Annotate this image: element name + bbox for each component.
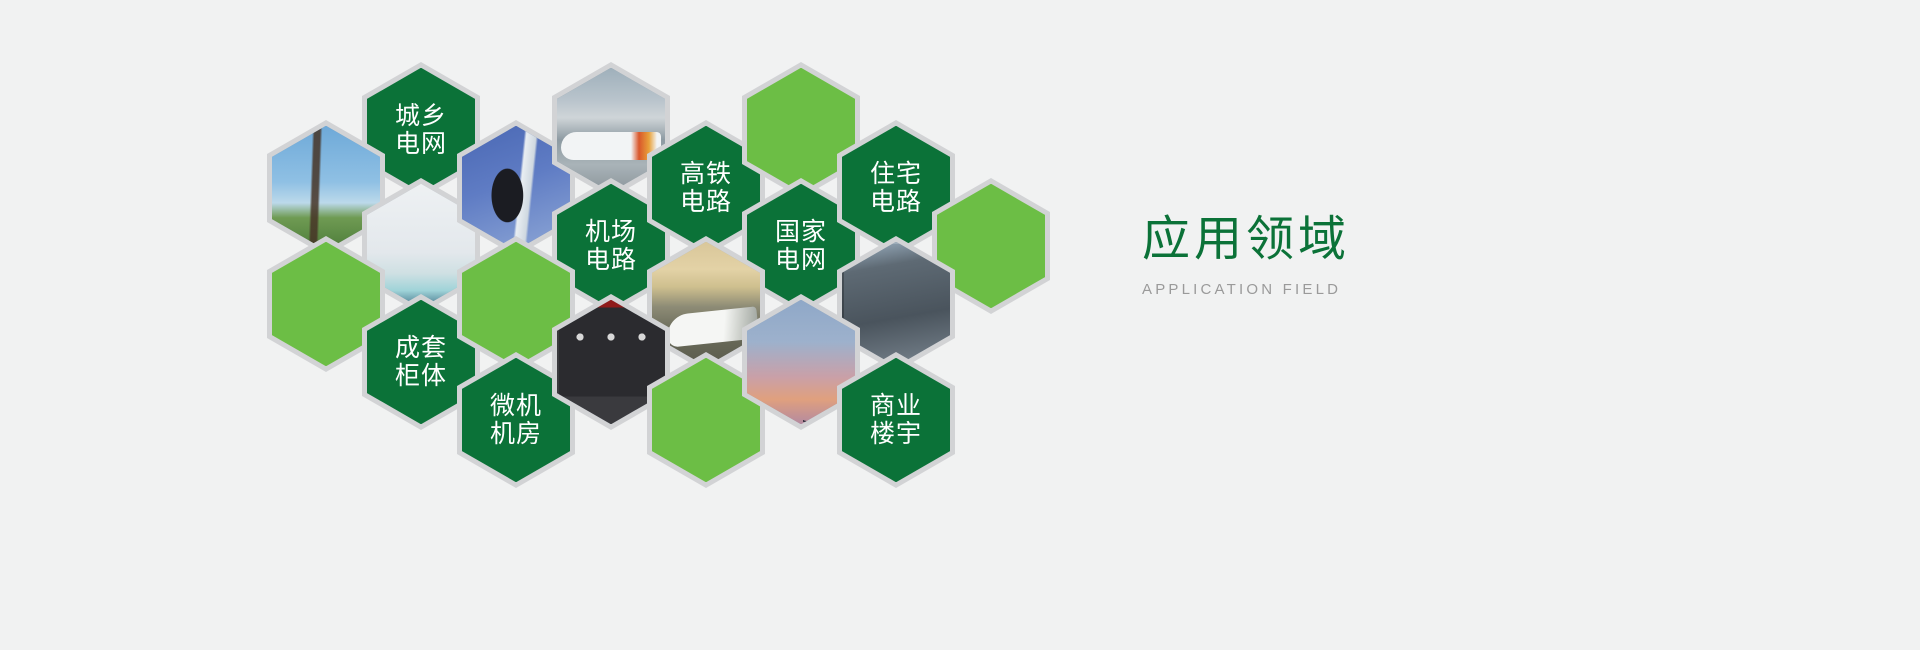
hex-label: 机场 电路 bbox=[585, 218, 637, 274]
page-title: 应用领域 bbox=[1142, 215, 1562, 263]
page-subtitle: APPLICATION FIELD bbox=[1142, 281, 1562, 298]
hex-label: 国家 电网 bbox=[775, 218, 827, 274]
hex-label: 城乡 电网 bbox=[395, 102, 447, 158]
hex-label: 商业 楼宇 bbox=[870, 392, 922, 448]
hex-label: 微机 机房 bbox=[490, 392, 542, 448]
hex-inner: 商业 楼宇 bbox=[842, 358, 950, 482]
hexagon-infographic: 城乡 电网机场 电路高铁 电路国家 电网住宅 电路成套 柜体微机 机房商业 楼宇 bbox=[0, 0, 1920, 650]
hex-label: 住宅 电路 bbox=[870, 160, 922, 216]
hex-label: 高铁 电路 bbox=[680, 160, 732, 216]
hex-label: 成套 柜体 bbox=[395, 334, 447, 390]
title-block: 应用领域 APPLICATION FIELD bbox=[1142, 215, 1562, 298]
